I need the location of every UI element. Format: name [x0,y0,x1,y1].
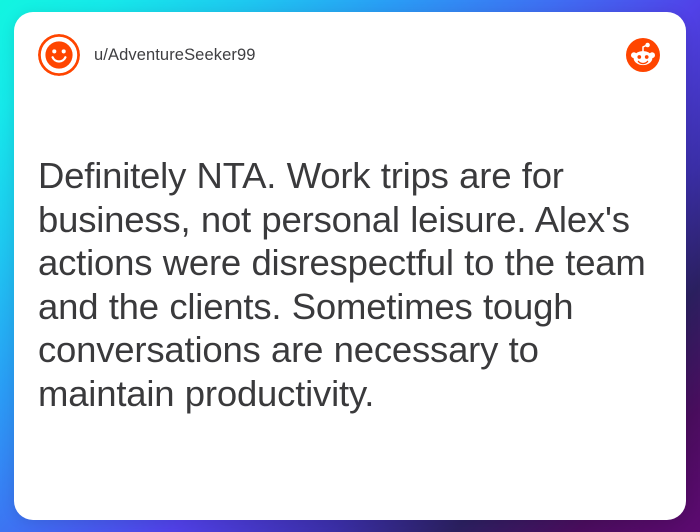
smiley-face-avatar-icon[interactable] [38,34,80,76]
screenshot-stage: u/AdventureSeeker99 Definitely NTA. Work… [0,0,700,532]
username-label: u/AdventureSeeker99 [94,46,256,65]
reddit-snoo-logo-icon[interactable] [626,38,660,72]
card-header: u/AdventureSeeker99 [14,12,686,98]
post-body-text: Definitely NTA. Work trips are for busin… [38,154,668,415]
reddit-comment-card: u/AdventureSeeker99 Definitely NTA. Work… [14,12,686,520]
